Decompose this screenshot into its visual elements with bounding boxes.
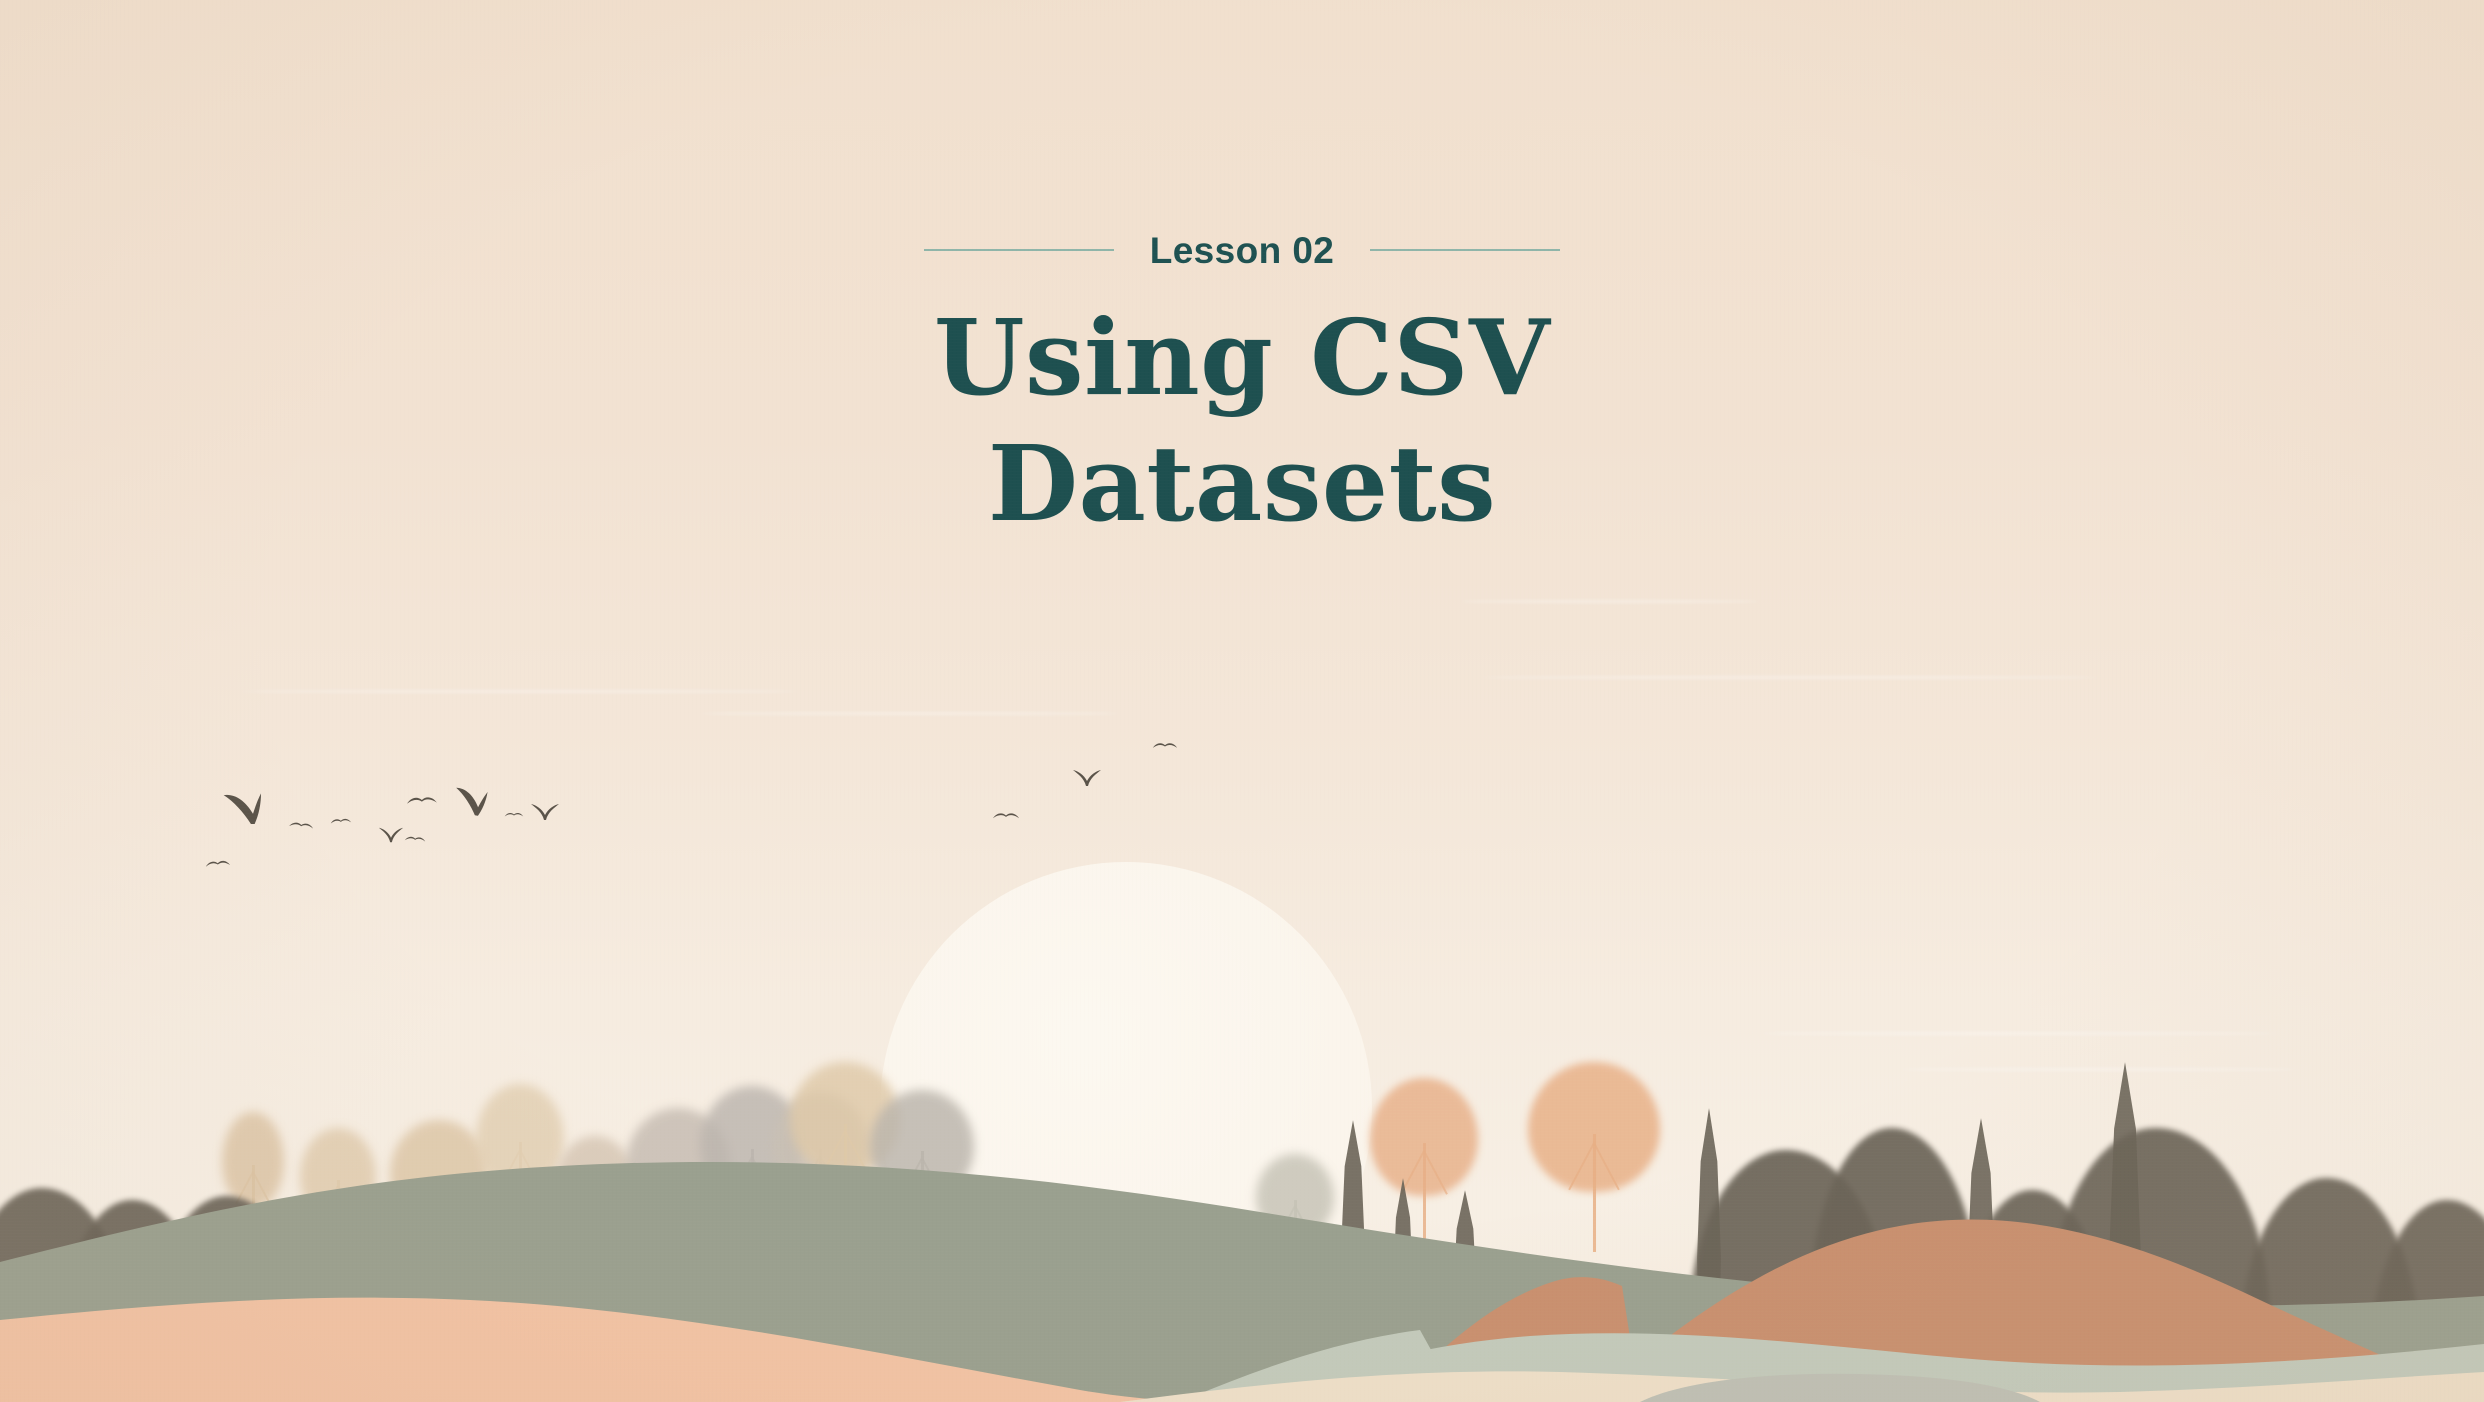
bird-icon [450,783,488,816]
bird-icon [992,812,1020,826]
hill-layers [0,0,2484,1402]
bird-icon [406,795,439,812]
bird-icon [221,790,261,824]
bird-icon [530,802,560,822]
slide-title-line-2: Datasets [0,432,2484,536]
bird-icon [287,821,314,836]
slide-canvas: Lesson 02 Using CSV Datasets [0,0,2484,1402]
slide-title: Using CSV Datasets [0,306,2484,536]
bird-icon [205,859,232,874]
slide-title-line-1: Using CSV [0,306,2484,410]
slide-header: Lesson 02 Using CSV Datasets [0,232,2484,536]
bird-icon [1152,742,1178,755]
eyebrow-row: Lesson 02 [0,232,2484,268]
divider-rule-left [924,249,1114,251]
bird-icon [378,826,404,844]
lesson-label: Lesson 02 [1150,232,1335,269]
bird-icon [330,817,353,829]
divider-rule-right [1370,249,1560,251]
bird-icon [1072,768,1102,788]
bird-icon [404,835,427,848]
bird-icon [504,812,524,822]
